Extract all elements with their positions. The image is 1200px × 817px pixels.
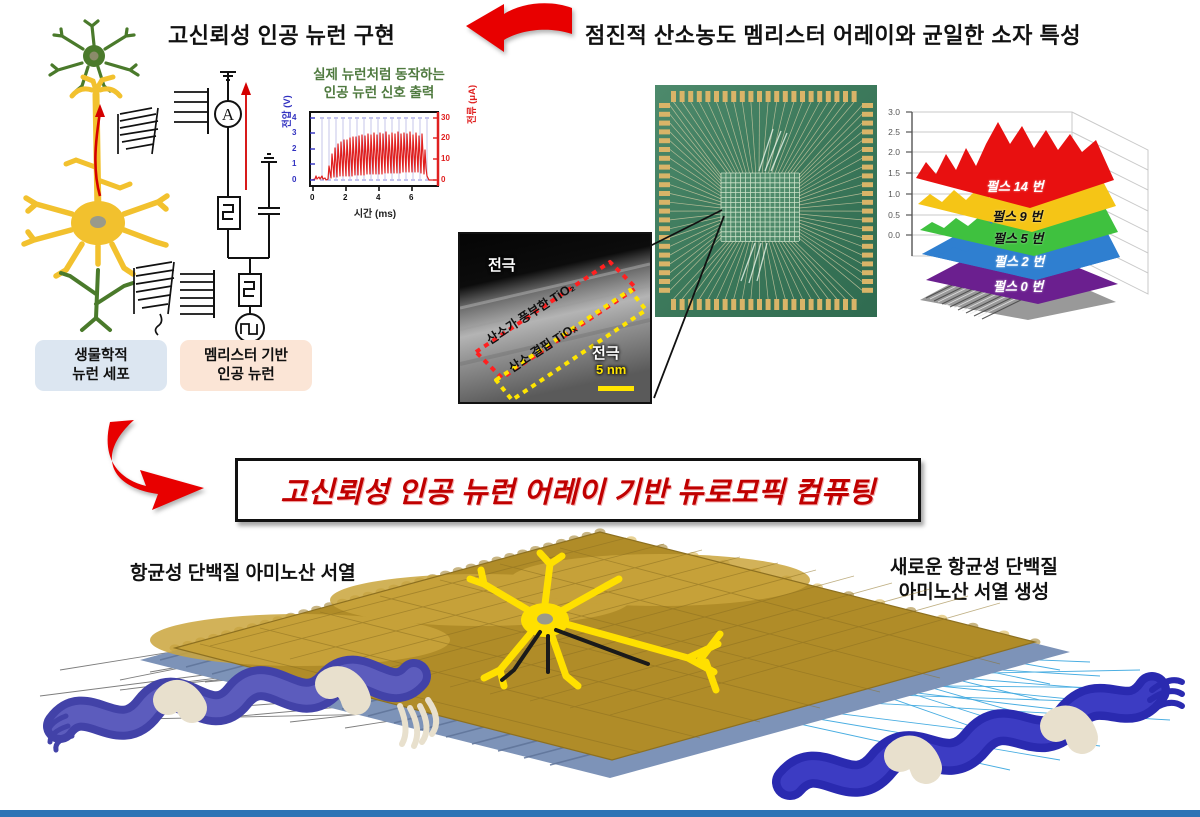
plot-ytick-left-0: 0 [292,175,296,184]
tem-cross-section-image: 전극 전극 산소가 풍부한 TiO₂ 산소 결핍 TiOₓ 5 nm [458,232,652,404]
plot-xtick-0: 0 [310,193,314,202]
plot-ytick-right-0: 0 [441,175,445,184]
plot3d-ztick-5: 0.5 [878,210,900,220]
plot-ytick-left-2: 2 [292,144,296,153]
footer-rule [0,810,1200,817]
plot3d-ztick-1: 2.5 [878,127,900,137]
biological-neuron-illustration [12,18,182,340]
memristor-neuron-circuit-diagram: A [170,62,292,347]
plot-ytick-right-1: 10 [441,154,450,163]
pulse-conductance-3d-plot: 3.0 2.5 2.0 1.5 1.0 0.5 0.0 펄스 14 번 펄스 9… [886,104,1186,326]
label-artificial-neuron: 멤리스터 기반 인공 뉴런 [180,340,312,391]
plot3d-layer-label-0: 펄스 0 번 [993,276,1043,295]
plot-y-axis-left-title: 전압 (V) [279,95,293,128]
bio-label-line-2: 뉴런 세포 [45,366,157,385]
plot3d-layer-label-9: 펄스 9 번 [992,206,1042,225]
plot-y-axis-right-title: 전류 (μA) [464,85,478,124]
plot-xtick-1: 2 [343,193,347,202]
caption-line-2: 인공 뉴런 신호 출력 [294,84,464,102]
bio-label-line-1: 생물학적 [45,347,157,366]
plot-ytick-right-3: 30 [441,113,450,122]
plot-xtick-3: 6 [409,193,413,202]
svg-text:A: A [222,105,235,124]
plot3d-ztick-2: 2.0 [878,147,900,157]
signal-plot-caption: 실제 뉴런처럼 동작하는 인공 뉴런 신호 출력 [294,66,464,101]
plot-ytick-right-2: 20 [441,133,450,142]
art-label-line-2: 인공 뉴런 [190,366,302,385]
plot-ytick-left-4: 4 [292,113,296,122]
plot3d-layer-label-2: 펄스 2 번 [994,251,1044,270]
art-label-line-1: 멤리스터 기반 [190,347,302,366]
plot-x-axis-title: 시간 (ms) [330,205,420,220]
neuromorphic-inference-scene [0,520,1200,817]
caption-line-1: 실제 뉴런처럼 동작하는 [294,66,464,84]
red-arrow-middle-icon [96,414,220,512]
plot3d-ztick-4: 1.0 [878,189,900,199]
plot3d-ztick-3: 1.5 [878,168,900,178]
tem-label-top-electrode: 전극 [488,254,516,275]
tem-label-bottom-electrode: 전극 [592,342,620,363]
plot3d-ztick-6: 0.0 [878,230,900,240]
plot3d-layer-label-14: 펄스 14 번 [986,176,1044,195]
plot3d-layer-label-5: 펄스 5 번 [993,228,1043,247]
plot3d-ztick-0: 3.0 [878,107,900,117]
plot-ytick-left-3: 3 [292,128,296,137]
plot-xtick-2: 4 [376,193,380,202]
plot-ytick-left-1: 1 [292,159,296,168]
neuron-signal-plot [296,110,452,202]
banner-text: 고신뢰성 인공 뉴런 어레이 기반 뉴로모픽 컴퓨팅 [281,469,876,511]
label-biological-neuron: 생물학적 뉴런 세포 [35,340,167,391]
tem-scale-bar-label: 5 nm [596,362,626,377]
chip-to-tem-leader-lines [640,190,730,410]
main-banner: 고신뢰성 인공 뉴런 어레이 기반 뉴로모픽 컴퓨팅 [235,458,921,522]
red-arrow-top-icon [460,2,580,60]
page-title-left: 고신뢰성 인공 뉴런 구현 [168,18,395,50]
page-title-right: 점진적 산소농도 멤리스터 어레이와 균일한 소자 특성 [585,18,1081,50]
